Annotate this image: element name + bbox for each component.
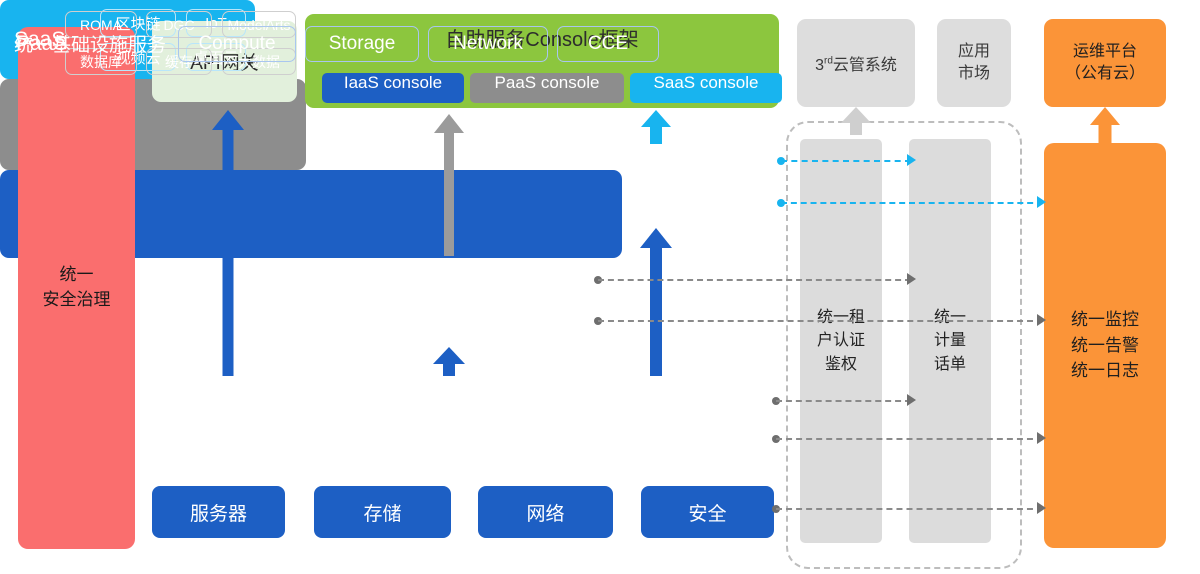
dashed-paas-to-ops-monitor bbox=[598, 320, 1043, 322]
security-governance-panel[interactable]: 统一 安全治理 bbox=[18, 27, 135, 549]
arrow-infra-to-api-gateway bbox=[212, 110, 244, 376]
arrowhead-infra-to-ops-monitor bbox=[1037, 432, 1046, 444]
hardware-server-box[interactable]: 服务器 bbox=[152, 486, 285, 538]
iaas-console-chip[interactable]: IaaS console bbox=[322, 73, 464, 103]
infra-service-network[interactable]: Network bbox=[428, 26, 548, 62]
unified-metering-billing-column[interactable]: 统一 计量 话单 bbox=[909, 139, 991, 543]
hardware-storage-box[interactable]: 存储 bbox=[314, 486, 451, 538]
arrow-paas-to-console bbox=[434, 114, 464, 256]
hardware-network-box[interactable]: 网络 bbox=[478, 486, 613, 538]
arrowhead-hardware-to-ops-monitor bbox=[1037, 502, 1046, 514]
ops-platform-box[interactable]: 运维平台 （公有云） bbox=[1044, 19, 1166, 107]
infra-service-storage[interactable]: Storage bbox=[305, 26, 419, 62]
ops-monitor-label: 统一监控 统一告警 统一日志 bbox=[1071, 307, 1139, 384]
arrowhead-paas-to-ops-monitor bbox=[1037, 314, 1046, 326]
dashed-saas-to-ops-monitor bbox=[781, 202, 1043, 204]
saas-console-chip[interactable]: SaaS console bbox=[630, 73, 782, 103]
infra-service-cce[interactable]: CCE bbox=[557, 26, 659, 62]
arrowhead-infra-to-tenant-auth bbox=[907, 394, 916, 406]
hardware-security-box[interactable]: 安全 bbox=[641, 486, 774, 538]
unified-tenant-auth-column[interactable]: 统一租 户认证 鉴权 bbox=[800, 139, 882, 543]
arrowhead-paas-to-tenant-auth bbox=[907, 273, 916, 285]
arrowhead-saas-to-ops-monitor bbox=[1037, 196, 1046, 208]
third-party-cloud-mgmt-box[interactable]: 3rd云管系统 bbox=[797, 19, 915, 107]
paas-console-chip[interactable]: PaaS console bbox=[470, 73, 624, 103]
third-party-cloud-mgmt-label: 3rd云管系统 bbox=[815, 51, 897, 75]
app-market-label: 应用 市场 bbox=[958, 41, 990, 84]
arrowhead-saas-to-tenant-auth bbox=[907, 154, 916, 166]
dashed-saas-to-tenant-auth bbox=[781, 160, 911, 162]
ops-platform-label: 运维平台 （公有云） bbox=[1065, 41, 1145, 84]
arrow-saas-to-console bbox=[641, 110, 671, 144]
ops-monitor-panel[interactable]: 统一监控 统一告警 统一日志 bbox=[1044, 143, 1166, 548]
infra-service-compute[interactable]: Compute bbox=[178, 26, 296, 62]
dashed-infra-to-ops-monitor bbox=[776, 438, 1043, 440]
arrow-infra-to-saas bbox=[640, 228, 672, 376]
dashed-paas-to-tenant-auth bbox=[598, 279, 911, 281]
security-governance-label: 统一 安全治理 bbox=[43, 263, 111, 312]
dashed-infra-to-tenant-auth bbox=[776, 400, 911, 402]
arrow-ops-monitor-to-platform bbox=[1090, 107, 1120, 145]
arrow-infra-to-paas bbox=[433, 347, 465, 376]
app-market-box[interactable]: 应用 市场 bbox=[937, 19, 1011, 107]
arrow-shared-to-third-party bbox=[841, 107, 871, 135]
infrastructure-label: 统一基础设施服务 bbox=[14, 30, 166, 57]
architecture-diagram: 统一 安全治理 API网关 自助服务Console框架 IaaS console… bbox=[0, 0, 1200, 574]
dashed-hardware-to-ops-monitor bbox=[776, 508, 1043, 510]
